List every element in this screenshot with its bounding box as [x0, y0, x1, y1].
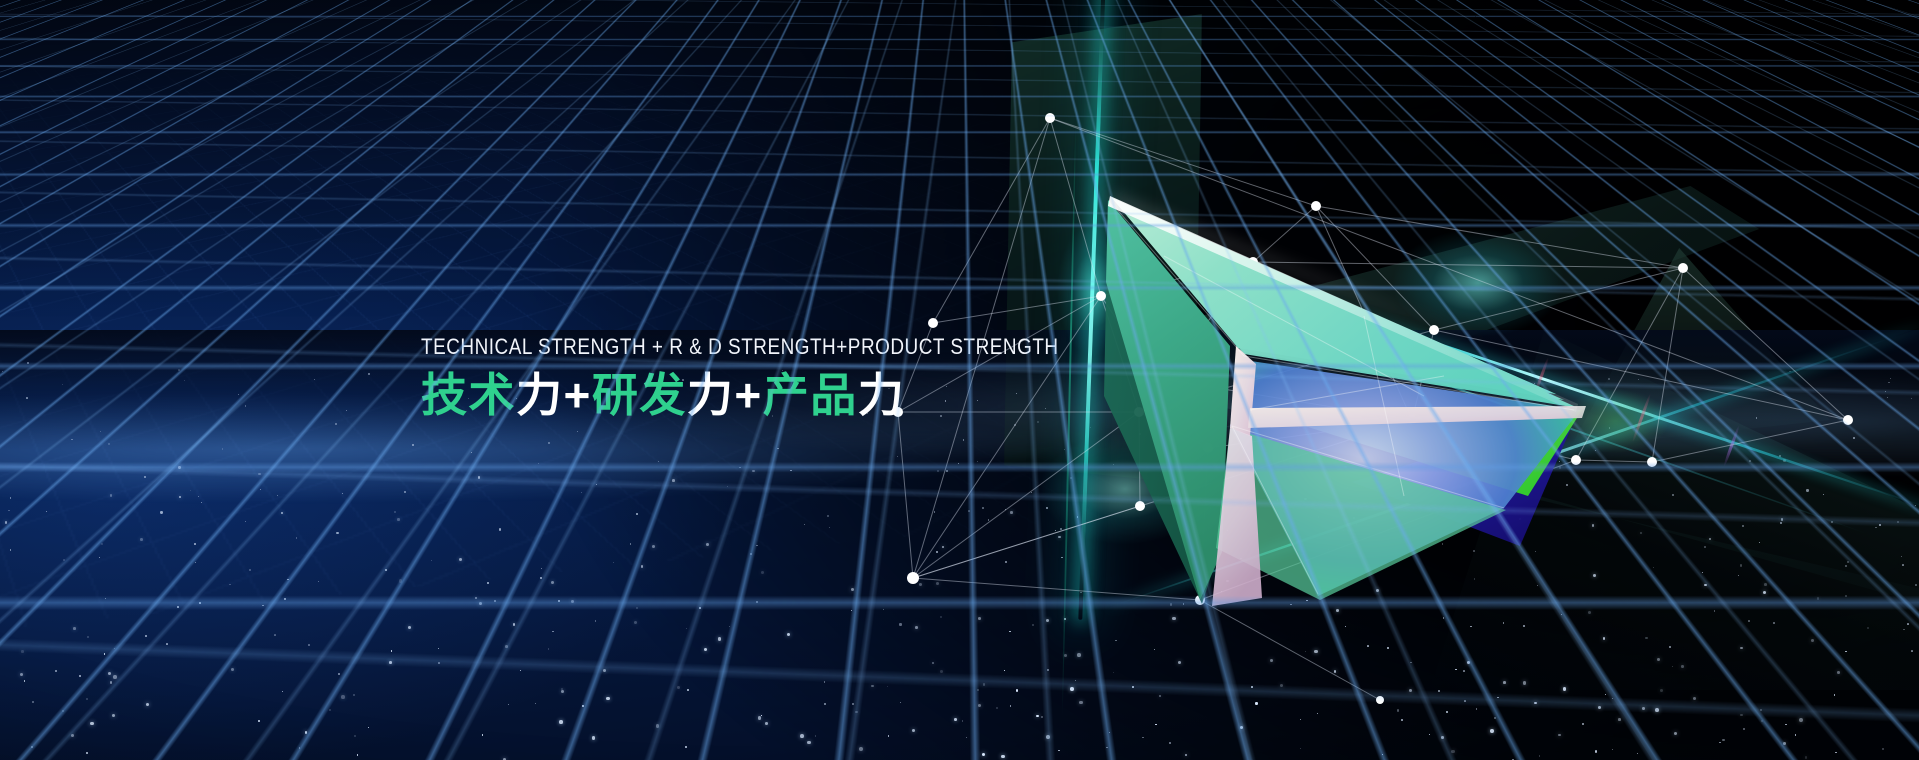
- hero-banner: TECHNICAL STRENGTH + R & D STRENGTH+PROD…: [0, 0, 1919, 760]
- vignette-overlay: [0, 0, 1919, 760]
